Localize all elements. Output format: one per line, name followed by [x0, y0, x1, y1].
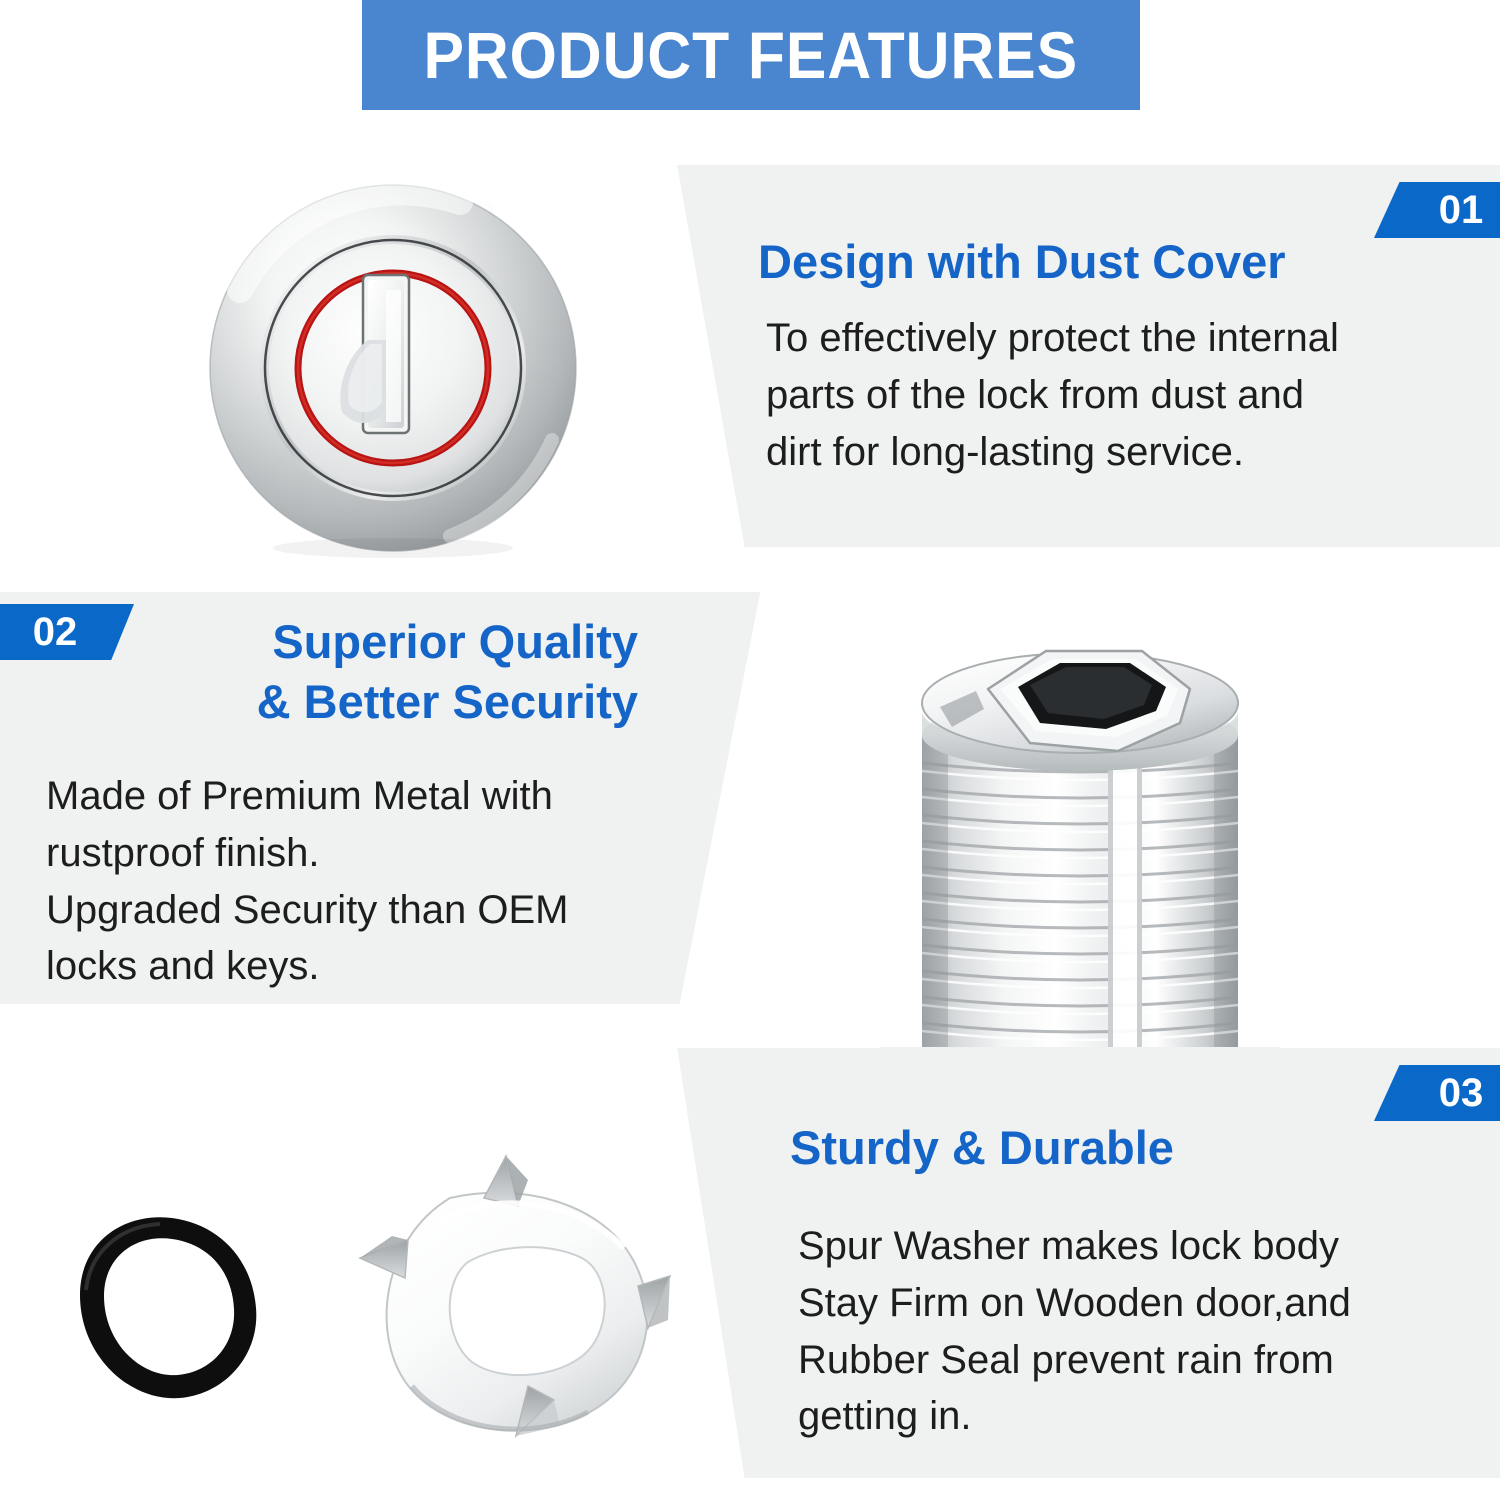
lock-face-with-dust-cover-photo	[160, 140, 620, 580]
header-banner: PRODUCT FEATURES	[362, 0, 1140, 110]
feature-number-badge-02: 02	[0, 604, 134, 660]
feature-number-label-02: 02	[33, 612, 78, 652]
feature-body-02: Made of Premium Metal with rustproof fin…	[46, 768, 666, 995]
rubber-seal-shape	[80, 1217, 256, 1398]
feature-number-label-03: 03	[1439, 1073, 1484, 1113]
product-features-infographic: PRODUCT FEATURES 01 Design with Dust Cov…	[0, 0, 1500, 1490]
feature-title-02: Superior Quality & Better Security	[120, 612, 638, 732]
feature-body-01: To effectively protect the internal part…	[766, 310, 1466, 480]
feature-title-01: Design with Dust Cover	[758, 232, 1458, 292]
feature-title-03: Sturdy & Durable	[790, 1118, 1490, 1178]
page-title: PRODUCT FEATURES	[424, 17, 1079, 93]
feature-body-03: Spur Washer makes lock body Stay Firm on…	[798, 1218, 1478, 1445]
threaded-lock-barrel-photo	[880, 585, 1280, 1055]
feature-number-label-01: 01	[1439, 190, 1484, 230]
spur-washer-shape	[360, 1156, 670, 1436]
rubber-seal-and-spur-washer-photo	[20, 1140, 700, 1480]
